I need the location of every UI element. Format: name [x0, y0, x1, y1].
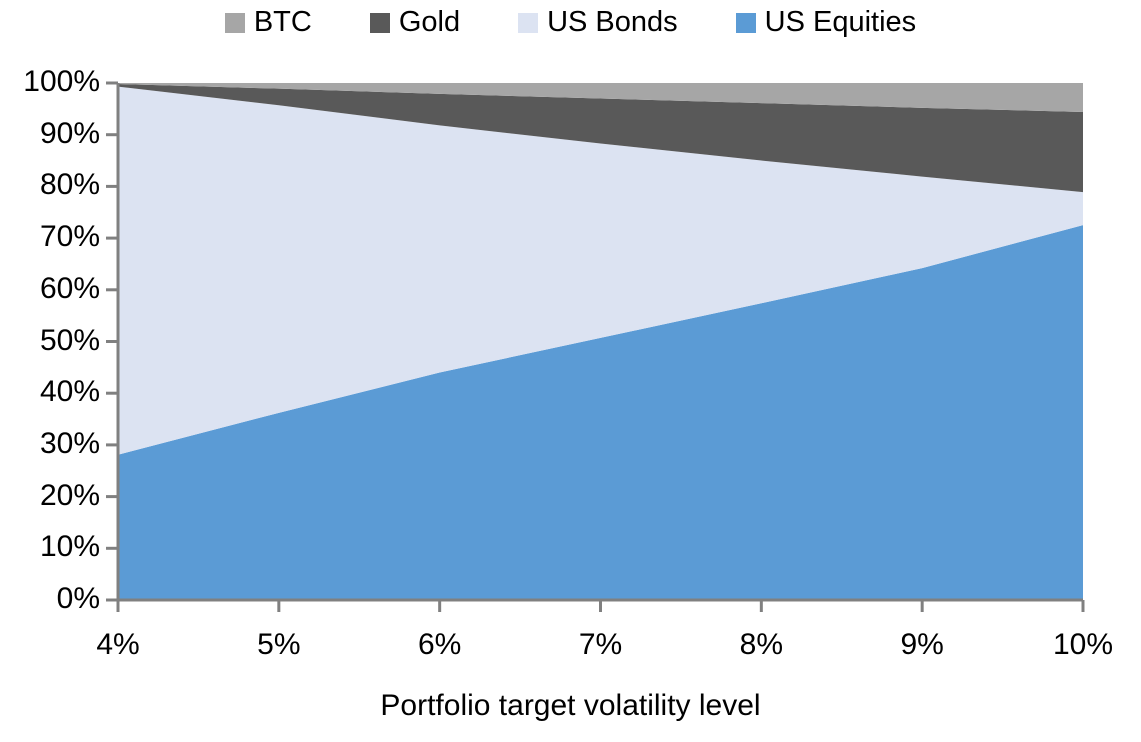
stacked-area-chart: BTC Gold US Bonds US Equities 0%10%20%30…	[0, 0, 1141, 742]
x-tick-label: 6%	[380, 630, 500, 660]
y-tick-label: 20%	[8, 481, 100, 511]
area-series-group	[118, 83, 1083, 600]
y-tick-label: 70%	[8, 222, 100, 252]
x-tick-label: 4%	[58, 630, 178, 660]
x-tick-label: 10%	[1023, 630, 1141, 660]
y-tick-label: 0%	[8, 584, 100, 614]
x-axis-title: Portfolio target volatility level	[0, 690, 1141, 722]
y-tick-label: 60%	[8, 274, 100, 304]
y-tick-label: 90%	[8, 119, 100, 149]
y-tick-label: 30%	[8, 429, 100, 459]
x-tick-label: 9%	[862, 630, 982, 660]
x-tick-label: 5%	[219, 630, 339, 660]
plot-area: 0%10%20%30%40%50%60%70%80%90%100% 4%5%6%…	[0, 0, 1141, 742]
y-tick-label: 50%	[8, 326, 100, 356]
y-tick-label: 40%	[8, 377, 100, 407]
y-tick-label: 100%	[8, 67, 100, 97]
y-tick-label: 80%	[8, 170, 100, 200]
y-tick-label: 10%	[8, 532, 100, 562]
x-tick-label: 8%	[701, 630, 821, 660]
x-tick-label: 7%	[541, 630, 661, 660]
